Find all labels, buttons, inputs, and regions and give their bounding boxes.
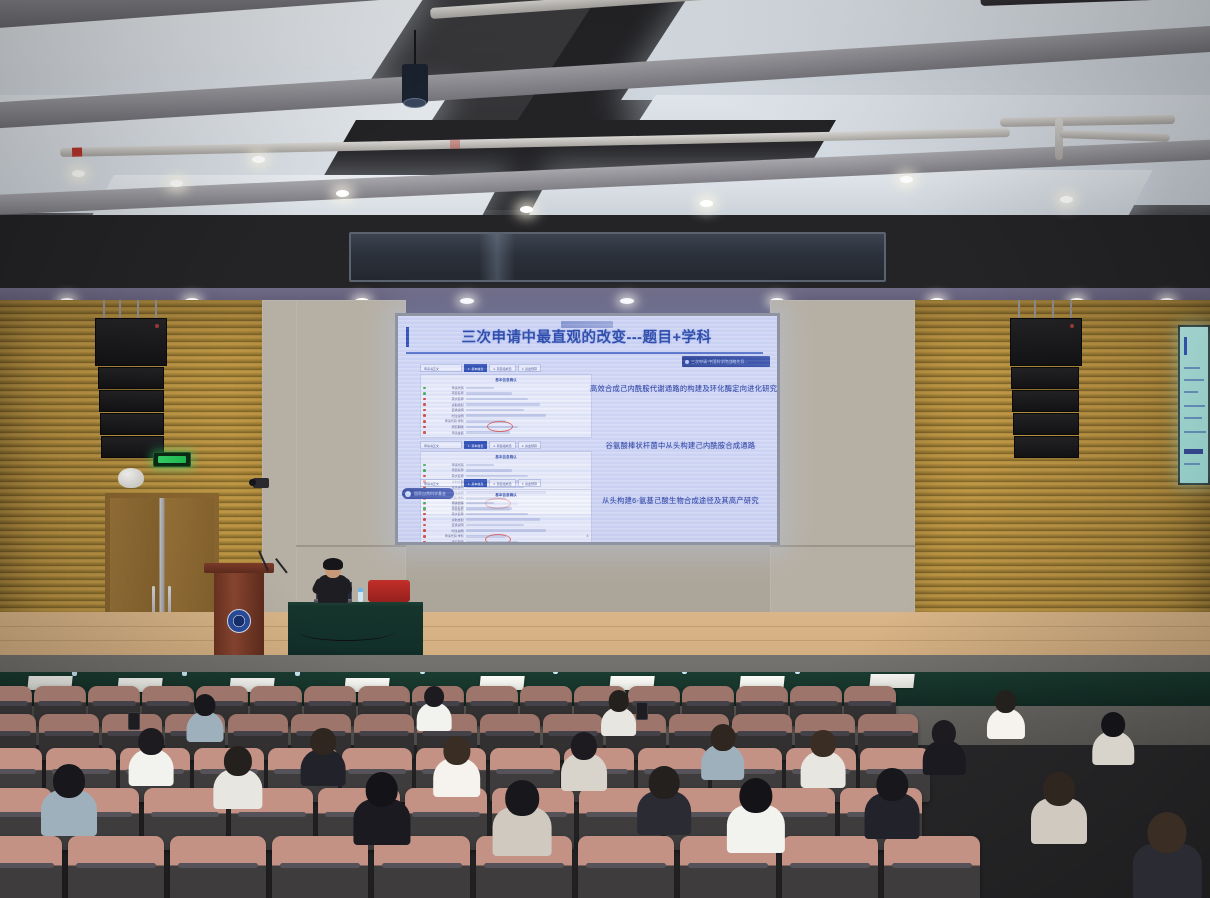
status-dot-red — [423, 409, 426, 412]
status-dot-red — [423, 524, 426, 527]
form-tab[interactable]: 2. 项目组成员 — [489, 364, 515, 372]
water-bottle — [682, 672, 687, 674]
form-row-value — [466, 414, 546, 417]
audience-member-head — [138, 728, 164, 755]
form-row-value — [466, 524, 524, 527]
form-row-value — [466, 409, 524, 412]
audience-member — [800, 730, 846, 786]
speaker-box — [1012, 390, 1079, 412]
audience-member-head — [53, 764, 85, 798]
form-screenshot-1: 申请书正文1. 基本信息2. 项目组成员3. 资金预算 基本信息确认 申请代码项… — [420, 364, 592, 438]
audience-member — [492, 780, 553, 854]
form-row-value — [466, 475, 528, 478]
audience-member-head — [223, 746, 251, 776]
audience-member-head — [740, 778, 773, 813]
confidence-monitor — [1178, 325, 1210, 485]
status-dot-green — [423, 464, 426, 467]
audience-member-head — [877, 768, 908, 801]
slide-title: 三次申请中最直观的改变---题目+学科 — [406, 326, 767, 347]
podium-emblem — [227, 609, 251, 633]
form-tab[interactable]: 2. 项目组成员 — [489, 441, 515, 449]
slide-pill-badge-text: 国家自然科学基金 — [402, 488, 454, 499]
slide-page-number: 4 — [586, 533, 588, 538]
audience-member-head — [608, 690, 628, 712]
status-dot-red — [423, 541, 426, 542]
audience-member-head — [1102, 712, 1126, 737]
form-row-label: 英文名称 — [428, 474, 464, 478]
form-row-label: 项目名称 — [428, 391, 464, 395]
ceiling-spotlight — [336, 190, 349, 197]
wall-panel-seam — [296, 545, 406, 547]
speaker-box — [100, 413, 164, 435]
form-tab[interactable]: 申请书正文 — [420, 364, 462, 372]
audience-member-head — [310, 728, 336, 755]
audience-member-head — [1043, 772, 1075, 806]
speaker-rigging — [1018, 300, 1072, 318]
form-row-value — [466, 387, 494, 390]
slide-pill-badge: 国家自然科学基金 — [402, 488, 454, 499]
ceiling-spotlight — [700, 200, 713, 207]
audience-member — [432, 736, 481, 796]
presenter-hair — [323, 558, 343, 570]
status-dot-green — [423, 469, 426, 472]
status-dot-red — [423, 420, 426, 423]
ceiling-spotlight — [72, 170, 85, 177]
form-row-value — [466, 464, 494, 467]
audience-member — [864, 768, 921, 837]
red-bag — [368, 580, 410, 602]
speaker-box — [1014, 436, 1079, 458]
form-tab[interactable]: 3. 资金预算 — [518, 364, 541, 372]
form-row-label: 资助类别 — [428, 403, 464, 407]
project-title-2: 谷氨酸棒状杆菌中从头构建己内酰胺合成通路 — [590, 441, 771, 451]
water-bottle — [72, 672, 77, 676]
form-tabs: 申请书正文1. 基本信息2. 项目组成员3. 资金预算 — [420, 441, 592, 449]
audience-member — [922, 720, 966, 773]
form-row-label: 英文名称 — [428, 512, 464, 516]
projection-screen: 三次申请中最直观的改变---题目+学科 三次申请·中国科学院战略先导… 申请书正… — [395, 313, 780, 545]
audience-member — [416, 686, 452, 729]
status-dot-red — [423, 398, 426, 401]
audience-member — [186, 694, 224, 740]
form-tabs: 申请书正文1. 基本信息2. 项目组成员3. 资金预算 — [420, 479, 592, 487]
ceiling-spotlight — [1060, 196, 1073, 203]
form-tab[interactable]: 1. 基本信息 — [464, 441, 487, 449]
auditorium-seat[interactable] — [0, 836, 62, 898]
project-title-3: 从头构建6-氨基己酸生物合成途径及其高产研究 — [590, 496, 771, 506]
audience-member — [128, 728, 174, 784]
water-bottle — [420, 672, 425, 674]
presentation-slide: 三次申请中最直观的改变---题目+学科 三次申请·中国科学院战略先导… 申请书正… — [398, 316, 777, 542]
highlight-circle — [485, 534, 511, 542]
form-row-label: 申请代码 — [428, 463, 464, 467]
smartphone[interactable] — [636, 702, 648, 720]
audience-member-head — [995, 690, 1017, 713]
audience-member — [40, 764, 98, 834]
audience-member — [300, 728, 346, 784]
audience-seating — [0, 672, 1210, 898]
form-row-value — [466, 518, 540, 521]
form-tab[interactable]: 申请书正文 — [420, 441, 462, 449]
form-tab[interactable]: 3. 资金预算 — [518, 441, 541, 449]
audience-member — [1132, 812, 1203, 897]
audience-member — [212, 746, 263, 808]
audience-member — [352, 772, 411, 843]
water-bottle — [795, 672, 800, 674]
line-array-speaker-left — [95, 318, 165, 459]
smartphone[interactable] — [128, 712, 140, 730]
form-row-value — [466, 469, 512, 472]
auditorium-seat[interactable] — [68, 836, 164, 898]
water-bottle — [182, 672, 187, 676]
form-row-label: 资助类别 — [428, 518, 464, 522]
audience-member — [700, 724, 745, 779]
audience-member-head — [195, 694, 216, 716]
speaker-box — [1011, 367, 1079, 389]
form-row-label: 申请代码 学科 — [428, 534, 464, 538]
ceiling-pipe-drop — [1055, 118, 1063, 160]
highlight-circle — [487, 421, 513, 432]
speaker-box — [99, 390, 164, 412]
form-tab[interactable]: 1. 基本信息 — [464, 479, 487, 487]
audience-member-head — [506, 780, 540, 816]
status-dot-green — [423, 507, 426, 510]
form-section-header: 基本信息确认 — [421, 377, 591, 385]
form-row-label: 项目名称 — [428, 468, 464, 472]
form-row-label: 申请代码 — [428, 386, 464, 390]
status-dot-red — [423, 475, 426, 478]
audience-member-head — [365, 772, 398, 807]
status-dot-red — [423, 529, 426, 532]
cable — [298, 622, 394, 641]
ceiling-spotlight — [900, 176, 913, 183]
form-tab[interactable]: 3. 资金预算 — [518, 479, 541, 487]
form-row-value — [466, 502, 494, 505]
presenter — [318, 560, 348, 602]
form-row-label: 项目名称 — [428, 506, 464, 510]
audience-member-head — [424, 686, 444, 707]
water-bottle — [553, 672, 558, 674]
speaker-box — [95, 318, 167, 366]
form-row-value — [466, 392, 512, 395]
form-row-value — [466, 403, 540, 406]
audience-member — [600, 690, 637, 735]
status-dot-red — [423, 431, 426, 434]
slide-right-banner: 三次申请·中国科学院战略先导… — [682, 356, 770, 367]
form-tabs: 申请书正文1. 基本信息2. 项目组成员3. 资金预算 — [420, 364, 592, 372]
auditorium-seat[interactable] — [884, 836, 980, 898]
ceiling-spotlight — [252, 156, 265, 163]
form-row-label: 亚类说明 — [428, 408, 464, 412]
form-row-label: 研究期限 — [428, 540, 464, 542]
audience-member-head — [1148, 812, 1187, 853]
audience-member — [1092, 712, 1135, 764]
pendant-speaker — [402, 64, 428, 104]
slide-header: 三次申请中最直观的改变---题目+学科 — [406, 326, 767, 352]
form-row-label: 亚类说明 — [428, 523, 464, 527]
status-dot-green — [423, 502, 426, 505]
ceiling-spotlight — [520, 206, 533, 213]
form-section-header: 基本信息确认 — [421, 454, 591, 462]
form-tab[interactable]: 2. 项目组成员 — [489, 479, 515, 487]
audience-member — [636, 766, 692, 833]
form-row-label: 申请金额 — [428, 431, 464, 435]
audience-member — [986, 690, 1025, 738]
form-row-label: 英文名称 — [428, 397, 464, 401]
status-dot-green — [423, 392, 426, 395]
slide-right-banner-text: 三次申请·中国科学院战略先导… — [682, 356, 770, 367]
audience-member-head — [710, 724, 735, 751]
audience-member-head — [810, 730, 836, 757]
form-tab[interactable]: 申请书正文 — [420, 479, 462, 487]
wall-panel-seam — [770, 545, 915, 547]
form-row-value — [466, 529, 546, 532]
confidence-monitor-content — [1180, 327, 1208, 483]
lecture-hall-photo: 三次申请中最直观的改变---题目+学科 三次申请·中国科学院战略先导… 申请书正… — [0, 0, 1210, 898]
speaker-box — [1013, 413, 1079, 435]
status-dot-green — [423, 387, 426, 390]
status-dot-red — [423, 518, 426, 521]
audience-member-head — [648, 766, 679, 799]
auditorium-seat[interactable] — [272, 836, 368, 898]
exit-sign-icon — [153, 452, 191, 467]
acoustic-panel — [349, 232, 886, 282]
audience-member-head — [932, 720, 956, 746]
project-title-1: 高效合成己内酰胺代谢通路的构建及环化酶定向进化研究 — [590, 384, 771, 394]
audience-member-head — [571, 732, 597, 760]
status-dot-red — [423, 513, 426, 516]
audience-member — [1030, 772, 1088, 842]
pendant-cord — [414, 30, 416, 66]
form-row-value — [466, 513, 528, 516]
form-row-value — [466, 507, 512, 510]
audience-member — [726, 778, 786, 851]
form-body: 基本信息确认 申请代码项目名称英文名称资助类别亚类说明附注说明申请代码 学科研究… — [420, 374, 592, 438]
status-dot-red — [423, 414, 426, 417]
auditorium-seat[interactable] — [170, 836, 266, 898]
audience-member — [560, 732, 608, 789]
speaker-box — [98, 367, 164, 389]
speaker-rigging — [103, 300, 157, 318]
line-array-speaker-right — [1010, 318, 1080, 459]
audience-member-head — [443, 736, 470, 765]
water-bottle — [358, 588, 363, 602]
security-camera-icon — [253, 478, 269, 488]
status-dot-red — [423, 403, 426, 406]
form-row-value — [466, 398, 528, 401]
water-bottle — [295, 672, 300, 676]
status-dot-red — [423, 426, 426, 429]
form-row-label: 附注说明 — [428, 414, 464, 418]
status-dot-red — [423, 535, 426, 538]
speaker-box — [1010, 318, 1082, 366]
auditorium-seat[interactable] — [578, 836, 674, 898]
form-row-label: 申请代码 学科 — [428, 419, 464, 423]
form-row-label: 申请代码 — [428, 501, 464, 505]
ceiling-dome-light — [118, 468, 144, 488]
slide-title-underline — [406, 352, 763, 354]
auditorium-seat[interactable] — [782, 836, 878, 898]
ceiling-spotlight — [170, 180, 183, 187]
form-row-label: 研究期限 — [428, 425, 464, 429]
form-row-label: 附注说明 — [428, 529, 464, 533]
form-tab[interactable]: 1. 基本信息 — [464, 364, 487, 372]
